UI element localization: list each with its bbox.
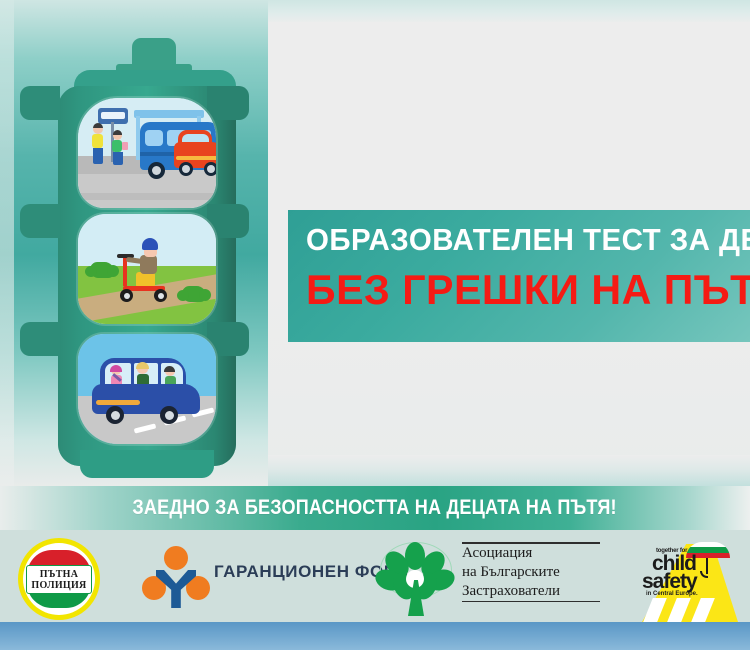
association-line-1: Асоциация	[462, 544, 602, 563]
bush-right	[182, 286, 206, 302]
bottom-blue-strip	[0, 622, 750, 650]
headline-primary: ОБРАЗОВАТЕЛЕН ТЕСТ ЗА ДЕЦА	[306, 220, 715, 260]
child-safety-line-3: safety	[642, 572, 697, 591]
logo-child-safety: together for child safety in Central Eur…	[624, 534, 748, 622]
scooter-wheel-rear	[154, 289, 167, 302]
family-car-wheel-front	[106, 406, 124, 424]
traffic-light-illustration	[20, 38, 248, 478]
red-car-wheel-rear	[204, 162, 216, 176]
traffic-light-lens-middle	[78, 214, 216, 324]
background-light-fade-bottom	[268, 455, 750, 490]
bus-wheel	[148, 162, 165, 179]
family-car-wheel-rear	[160, 406, 178, 424]
slogan-banner: ЗАЕДНО ЗА БЕЗОПАСНОСТТА НА ДЕЦАТА НА ПЪТ…	[0, 486, 750, 530]
scooter-wheel-front	[120, 289, 133, 302]
traffic-light-visor-left-3	[20, 322, 60, 356]
police-label-line2: ПОЛИЦИЯ	[31, 580, 86, 591]
logo-guarantee-fund	[142, 546, 210, 608]
traffic-light-lens-top	[78, 98, 216, 208]
association-line-3: Застрахователи	[462, 582, 602, 601]
family-car-lamp	[96, 400, 140, 405]
traffic-light-base	[80, 450, 214, 478]
shopping-bag-icon	[122, 142, 128, 150]
slogan-text: ЗАЕДНО ЗА БЕЗОПАСНОСТТА НА ДЕЦАТА НА ПЪТ…	[133, 496, 617, 520]
headline-block: ОБРАЗОВАТЕЛЕН ТЕСТ ЗА ДЕЦА БЕЗ ГРЕШКИ НА…	[288, 210, 750, 342]
police-label-line1: ПЪТНА	[40, 569, 79, 580]
fund-dot-top	[164, 546, 188, 570]
background-light-fade-top	[268, 0, 750, 24]
association-text-block: Асоциация на Българските Застрахователи	[462, 542, 602, 602]
helmet-icon	[142, 238, 158, 250]
scene-bus-stop-kerb	[78, 193, 216, 200]
police-plate: ПЪТНА ПОЛИЦИЯ	[26, 565, 92, 594]
association-rule-bottom	[462, 601, 600, 603]
association-line-2: на Българските	[462, 563, 602, 582]
bus-window-1	[145, 130, 163, 146]
red-car-wheel-front	[179, 162, 193, 176]
bush-left	[90, 262, 114, 278]
traffic-light-visor-left-1	[20, 86, 60, 120]
bus-shelter-roof	[134, 110, 204, 118]
traffic-light-lens-bottom	[78, 334, 216, 444]
child-torso	[140, 255, 157, 274]
poster-root: ОБРАЗОВАТЕЛЕН ТЕСТ ЗА ДЕЦА БЕЗ ГРЕШКИ НА…	[0, 0, 750, 650]
logo-road-police: ПЪТНА ПОЛИЦИЯ	[18, 538, 100, 620]
logo-insurers-association	[378, 540, 454, 616]
red-car-lamp	[176, 156, 216, 160]
headline-secondary: БЕЗ ГРЕШКИ НА ПЪТЯ	[306, 264, 727, 316]
bus-stop-sign-inner	[101, 112, 125, 119]
traffic-light-visor-left-2	[20, 204, 60, 238]
child-safety-line-4: in Central Europe.	[646, 591, 698, 597]
